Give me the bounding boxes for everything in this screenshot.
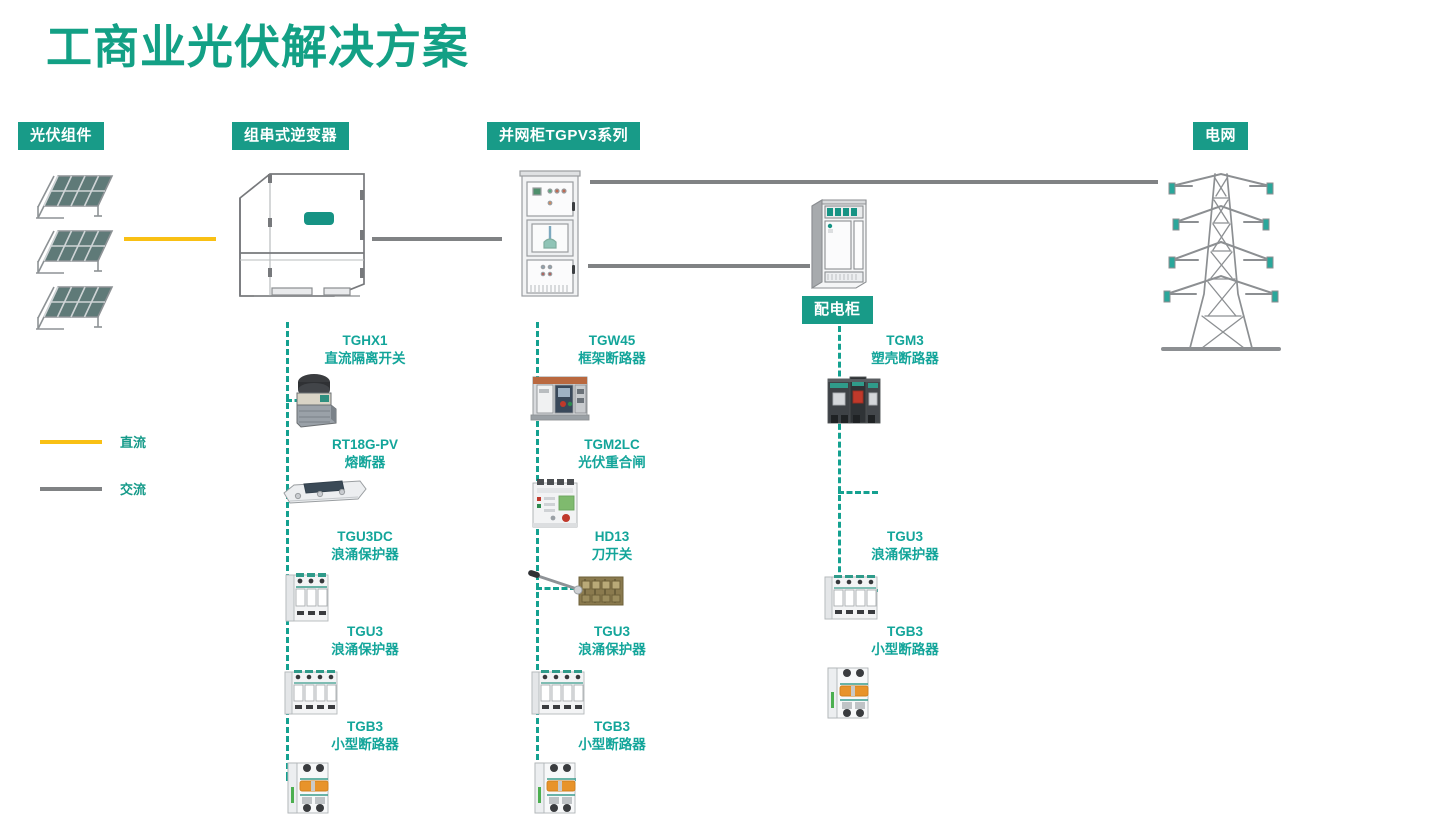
product-tgm2lc: TGM2LC 光伏重合闸 [527,436,697,531]
product-model: TGB3 [820,623,990,641]
product-desc: 熔断器 [280,454,450,472]
product-model: TGB3 [527,718,697,736]
molded-case-circuit-breaker-icon [820,371,990,427]
product-desc: 浪涌保护器 [280,546,450,564]
legend-item-ac: 交流 [40,479,146,498]
surge-protector-icon [527,662,697,720]
mini-circuit-breaker-icon [527,757,697,819]
product-tgb3-col2: TGB3 小型断路器 [527,718,697,819]
product-desc: 直流隔离开关 [280,350,450,368]
legend-swatch-dc [40,440,102,444]
pv-recloser-icon [527,475,697,531]
product-model: TGU3 [820,528,990,546]
product-desc: 光伏重合闸 [527,454,697,472]
surge-protector-dc-icon [280,567,450,625]
legend-item-dc: 直流 [40,432,146,451]
string-inverter-illustration [232,168,372,303]
product-desc: 刀开关 [527,546,697,564]
badge-grid-cabinet: 并网柜TGPV3系列 [487,122,640,150]
pv-panel-3 [28,277,114,333]
product-model: HD13 [527,528,697,546]
product-model: TGU3DC [280,528,450,546]
product-model: TGM3 [820,332,990,350]
product-tgu3dc: TGU3DC 浪涌保护器 [280,528,450,625]
product-tgm3: TGM3 塑壳断路器 [820,332,990,427]
product-rt18g-pv: RT18G-PV 熔断器 [280,436,450,509]
distribution-cabinet-illustration [808,194,870,292]
product-desc: 框架断路器 [527,350,697,368]
product-desc: 浪涌保护器 [820,546,990,564]
product-tgb3-col3: TGB3 小型断路器 [820,623,990,724]
surge-protector-icon [820,567,990,625]
product-model: TGM2LC [527,436,697,454]
product-tgu3-col3: TGU3 浪涌保护器 [820,528,990,625]
ac-line-grid-cabinet-to-distribution [588,264,810,268]
badge-pv-module: 光伏组件 [18,122,104,150]
product-model: TGB3 [280,718,450,736]
badge-string-inverter: 组串式逆变器 [232,122,349,150]
product-tgb3-col1: TGB3 小型断路器 [280,718,450,819]
product-tgu3-col1: TGU3 浪涌保护器 [280,623,450,720]
product-desc: 浪涌保护器 [527,641,697,659]
ac-line-inverter-to-grid-cabinet [372,237,502,241]
diagram-canvas: 工商业光伏解决方案 光伏组件 组串式逆变器 并网柜TGPV3系列 配电柜 电网 … [0,0,1436,829]
page-title: 工商业光伏解决方案 [46,22,469,73]
product-desc: 小型断路器 [820,641,990,659]
product-model: TGW45 [527,332,697,350]
mini-circuit-breaker-icon [820,662,990,724]
legend-swatch-ac [40,487,102,491]
product-desc: 浪涌保护器 [280,641,450,659]
air-circuit-breaker-icon [527,371,697,423]
product-desc: 小型断路器 [527,736,697,754]
product-desc: 小型断路器 [280,736,450,754]
product-tgw45: TGW45 框架断路器 [527,332,697,423]
grid-cabinet-illustration [519,170,581,300]
product-tghx1: TGHX1 直流隔离开关 [280,332,450,429]
dc-isolator-switch-icon [280,371,450,429]
legend-label-dc: 直流 [120,432,146,451]
ac-line-grid-cabinet-to-grid [590,180,1158,184]
surge-protector-icon [280,662,450,720]
product-tgu3-col2: TGU3 浪涌保护器 [527,623,697,720]
pv-panel-1 [28,166,114,222]
product-model: TGHX1 [280,332,450,350]
product-model: RT18G-PV [280,436,450,454]
badge-distribution-cabinet: 配电柜 [802,296,873,324]
connector-branch-col3-2 [838,491,878,494]
legend-label-ac: 交流 [120,479,146,498]
product-desc: 塑壳断路器 [820,350,990,368]
product-model: TGU3 [280,623,450,641]
pv-panel-2 [28,221,114,277]
knife-switch-icon [527,567,697,613]
mini-circuit-breaker-icon [280,757,450,819]
dc-line-pv-to-inverter [124,237,216,241]
badge-power-grid: 电网 [1193,122,1248,150]
fuse-holder-icon [280,475,450,509]
product-hd13: HD13 刀开关 [527,528,697,613]
product-model: TGU3 [527,623,697,641]
transmission-tower-illustration [1158,166,1284,361]
